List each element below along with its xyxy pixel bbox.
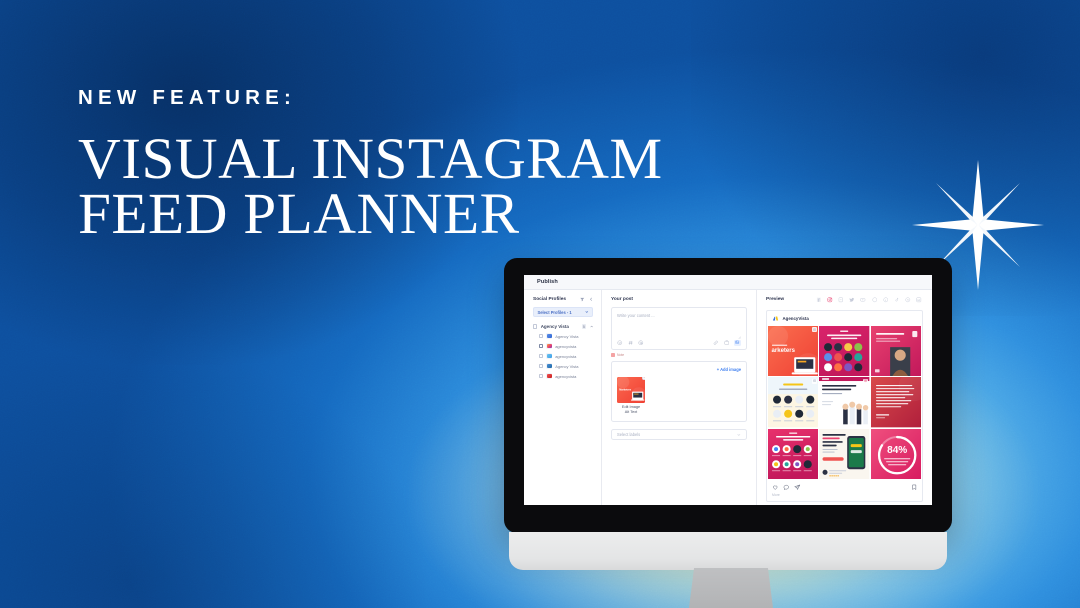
eyebrow-label: NEW FEATURE:: [78, 88, 698, 109]
tab-twitter[interactable]: [849, 297, 855, 303]
attachment-item[interactable]: Marketers × Edit Image: [617, 377, 645, 416]
instagram-feed-grid: arketers: [767, 326, 922, 480]
profile-checkbox[interactable]: [539, 334, 543, 338]
social-profiles-panel: Social Profiles Select Profiles - 1: [524, 290, 602, 505]
feed-tile[interactable]: [871, 326, 921, 376]
feed-tile-art: arketers: [768, 326, 818, 376]
avatar: [546, 353, 552, 359]
instagram-more-label[interactable]: More: [767, 493, 922, 501]
your-post-panel: Your post Write your content ...: [602, 290, 757, 505]
profile-group-row[interactable]: Agency Vista 5: [533, 324, 593, 329]
select-profiles-label: Select Profiles - 1: [538, 310, 572, 315]
profile-name: agencyvista: [555, 344, 576, 349]
tile-type-icon: [812, 327, 817, 332]
tab-linkedin[interactable]: [916, 297, 922, 303]
svg-text:Marketers: Marketers: [619, 388, 631, 391]
group-checkbox[interactable]: [533, 324, 537, 328]
feed-tile[interactable]: [819, 429, 869, 479]
tab-instagram-story[interactable]: [838, 297, 844, 303]
alt-text-link[interactable]: Alt Text: [617, 410, 645, 415]
avatar: [546, 333, 552, 339]
feed-tile[interactable]: [768, 429, 818, 479]
chevron-down-icon: [737, 433, 741, 437]
profile-row[interactable]: Agency Vista: [539, 363, 593, 369]
profile-name: Agency Vista: [555, 364, 578, 369]
image-icon[interactable]: [734, 340, 741, 346]
agency-vista-logo: [772, 315, 779, 322]
facebook-icon: [547, 334, 552, 339]
post-alert: Note: [611, 353, 747, 357]
mention-icon[interactable]: [638, 340, 644, 346]
monitor-screen: Publish Social Profiles Se: [524, 275, 932, 505]
attachment-thumbnail[interactable]: Marketers ×: [617, 377, 645, 403]
link-icon[interactable]: [713, 340, 719, 346]
feed-tile[interactable]: 84%: [871, 429, 921, 479]
svg-text:arketers: arketers: [771, 348, 795, 354]
twitter-icon: [547, 354, 552, 359]
labels-placeholder: Select labels: [617, 432, 640, 437]
tab-tiktok[interactable]: [894, 297, 900, 303]
labels-select[interactable]: Select labels: [611, 429, 747, 440]
app-columns: Social Profiles Select Profiles - 1: [524, 290, 932, 505]
tab-facebook[interactable]: [816, 297, 822, 303]
profile-row[interactable]: Agency Vista: [539, 333, 593, 339]
feed-tile-art: 84%: [871, 429, 921, 479]
headline-line-2: FEED PLANNER: [78, 186, 710, 241]
social-profiles-header: Social Profiles: [533, 297, 593, 302]
post-content-placeholder: Write your content ...: [617, 313, 741, 318]
tile-type-icon: [812, 379, 817, 384]
preview-title: Preview: [766, 297, 784, 302]
svg-text:84%: 84%: [887, 445, 907, 456]
tab-youtube[interactable]: [860, 297, 866, 303]
monitor-chin: [509, 532, 947, 570]
profile-checkbox[interactable]: [539, 364, 543, 368]
avatar: [546, 363, 552, 369]
avatar: [546, 343, 552, 349]
linkedin-icon: [547, 364, 552, 369]
chevron-up-icon[interactable]: [590, 325, 593, 328]
feed-tile[interactable]: [819, 377, 869, 427]
avatar: [546, 373, 552, 379]
tab-threads[interactable]: [905, 297, 911, 303]
tile-type-icon: [863, 379, 868, 384]
post-composer[interactable]: Write your content ...: [611, 307, 747, 350]
chevron-left-icon[interactable]: [589, 297, 594, 302]
filter-icon[interactable]: [580, 297, 585, 302]
app-title: Publish: [537, 279, 558, 285]
alert-text: Note: [617, 353, 624, 357]
page-title: VISUAL INSTAGRAM FEED PLANNER: [78, 131, 698, 241]
feed-tile[interactable]: [819, 326, 869, 376]
feed-tile-art: [819, 377, 869, 427]
profile-checkbox[interactable]: [539, 374, 543, 378]
monitor-bezel: Publish Social Profiles Se: [504, 258, 952, 533]
headline-block: NEW FEATURE: VISUAL INSTAGRAM FEED PLANN…: [78, 88, 698, 241]
thumb-art: Marketers: [617, 377, 645, 403]
feed-tile-art: [819, 326, 869, 376]
profile-name: agencyvista: [555, 354, 576, 359]
gif-icon[interactable]: [724, 340, 730, 346]
add-image-button[interactable]: + Add image: [717, 367, 741, 372]
feed-tile-art: [871, 326, 921, 376]
feed-tile-art: [819, 429, 869, 479]
instagram-handle: AgencyVista: [783, 316, 809, 321]
headline-line-1: VISUAL INSTAGRAM: [78, 131, 710, 186]
composer-toolbar: [617, 340, 741, 346]
profile-checkbox[interactable]: [539, 354, 543, 358]
monitor-mockup: Publish Social Profiles Se: [504, 258, 952, 608]
publish-app: Publish Social Profiles Se: [524, 275, 932, 505]
comment-icon[interactable]: [783, 484, 790, 491]
group-count-badge: 5: [582, 324, 587, 329]
tab-google-business[interactable]: [872, 297, 878, 303]
monitor-stand: [689, 568, 773, 608]
profile-row[interactable]: agencyvista: [539, 343, 593, 349]
feed-tile-art: [871, 377, 921, 427]
feed-tile-art: [768, 429, 818, 479]
instagram-action-bar: [767, 479, 922, 493]
tab-pinterest[interactable]: [883, 297, 889, 303]
remove-attachment-icon[interactable]: ×: [642, 377, 645, 380]
feed-tile-art: [768, 377, 818, 427]
feed-tile[interactable]: [871, 377, 921, 427]
instagram-account-header: AgencyVista: [767, 311, 922, 326]
profile-checkbox[interactable]: [539, 344, 543, 348]
share-icon[interactable]: [794, 484, 801, 491]
your-post-title: Your post: [611, 297, 747, 302]
preview-header: Preview: [766, 297, 923, 303]
profile-name: Agency Vista: [555, 334, 578, 339]
media-attachments: + Add image Marketers: [611, 361, 747, 423]
heart-icon[interactable]: [772, 484, 779, 491]
chevron-down-icon: [585, 310, 589, 314]
app-topbar: Publish: [524, 275, 932, 290]
instagram-preview-card: AgencyVista: [766, 310, 923, 502]
feed-tile[interactable]: [768, 377, 818, 427]
alert-icon: [611, 353, 615, 357]
pinterest-icon: [547, 374, 552, 379]
profile-row[interactable]: agencyvista: [539, 353, 593, 359]
bookmark-icon[interactable]: [911, 484, 918, 491]
preview-panel: Preview: [757, 290, 932, 505]
hashtag-icon[interactable]: [628, 340, 634, 346]
profile-row[interactable]: agencyvista: [539, 373, 593, 379]
feed-tile[interactable]: arketers: [768, 326, 818, 376]
tab-instagram[interactable]: [827, 297, 833, 303]
instagram-icon: [547, 344, 552, 349]
select-profiles-dropdown[interactable]: Select Profiles - 1: [533, 307, 593, 317]
emoji-icon[interactable]: [617, 340, 623, 346]
preview-network-tabs: [793, 297, 923, 303]
social-profiles-title: Social Profiles: [533, 297, 566, 302]
profile-name: agencyvista: [555, 374, 576, 379]
group-name: Agency Vista: [541, 324, 578, 329]
